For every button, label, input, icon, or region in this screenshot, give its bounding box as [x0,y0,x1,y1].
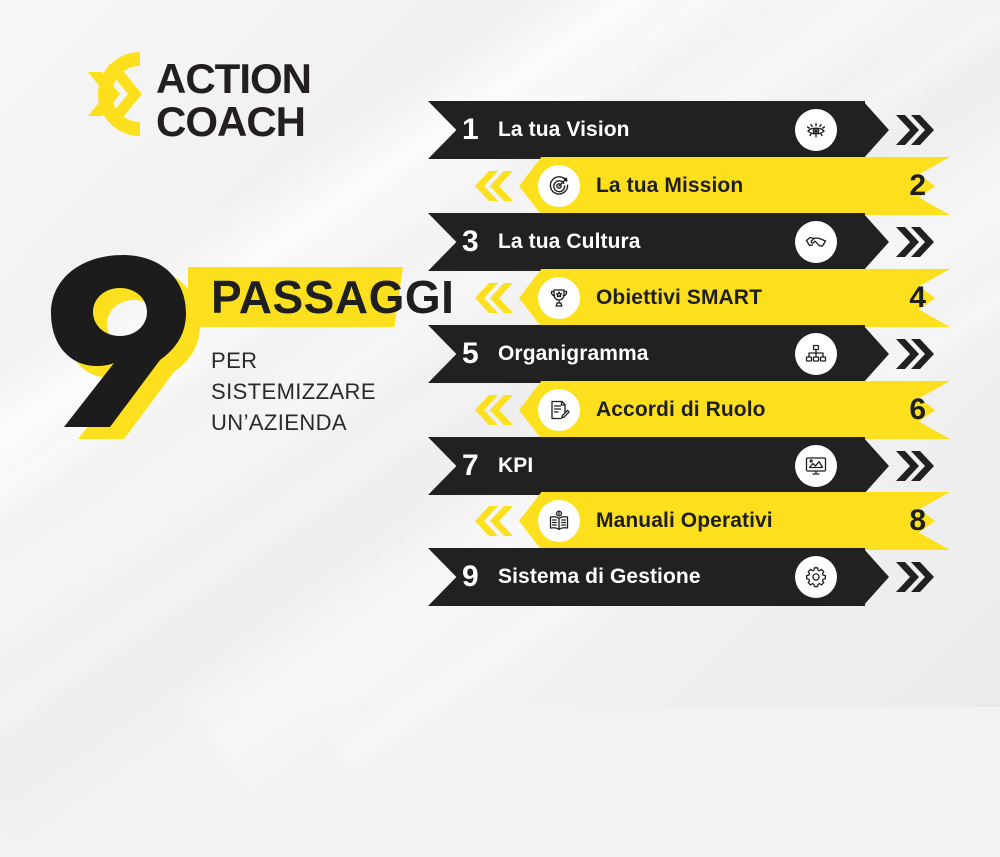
step-row-8[interactable]: 8 Manuali Operativi [497,492,950,550]
handshake-icon [795,221,837,263]
hero-title-block: 9 PASSAGGI PER SISTEMIZZARE UN’AZIENDA [48,255,428,445]
step-arrow-tip [863,213,889,271]
step-label: La tua Cultura [498,230,641,254]
step-row-3[interactable]: 3 La tua Cultura [428,213,865,271]
step-arrow-tip [863,325,889,383]
step-label: Organigramma [498,342,649,366]
hero-banner-title: PASSAGGI [211,273,454,321]
step-number: 7 [462,451,479,481]
step-label: Accordi di Ruolo [596,398,766,422]
chevron-double-right-icon [892,445,934,487]
chevron-double-left-icon [475,500,517,542]
hero-subtitle-line1: PER SISTEMIZZARE [211,345,428,407]
step-number: 2 [909,171,926,201]
step-label: La tua Mission [596,174,743,198]
step-number: 1 [462,115,479,145]
target-icon [538,165,580,207]
step-label: La tua Vision [498,118,630,142]
chevron-double-left-icon [475,277,517,319]
step-number: 8 [909,506,926,536]
step-number: 5 [462,339,479,369]
step-arrow-tip [863,437,889,495]
hero-subtitle-line2: UN’AZIENDA [211,407,428,438]
trophy-icon [538,277,580,319]
step-label: Obiettivi SMART [596,286,762,310]
step-row-9[interactable]: 9 Sistema di Gestione [428,548,865,606]
step-row-2[interactable]: 2 La tua Mission [497,157,950,215]
step-row-7[interactable]: 7 KPI [428,437,865,495]
step-row-1[interactable]: 1 La tua Vision [428,101,865,159]
open-book-icon [538,500,580,542]
step-number: 9 [462,562,479,592]
step-arrow-tip [863,548,889,606]
step-row-4[interactable]: 4 Obiettivi SMART [497,269,950,327]
step-label: Manuali Operativi [596,509,773,533]
chevron-double-right-icon [892,109,934,151]
svg-text:COACH: COACH [156,98,305,145]
step-number: 4 [909,283,926,313]
step-label: Sistema di Gestione [498,565,701,589]
chevron-double-right-icon [892,556,934,598]
step-row-5[interactable]: 5 Organigramma [428,325,865,383]
org-chart-icon [795,333,837,375]
chevron-double-left-icon [475,165,517,207]
chevron-double-right-icon [892,333,934,375]
contract-pen-icon [538,389,580,431]
dashboard-icon [795,445,837,487]
chevron-double-left-icon [475,389,517,431]
step-number: 6 [909,395,926,425]
gear-icon [795,556,837,598]
eye-icon [795,109,837,151]
step-row-6[interactable]: 6 Accordi di Ruolo [497,381,950,439]
step-arrow-tip [863,101,889,159]
actioncoach-logo: ACTION COACH ACTION COACH [52,38,322,150]
hero-subtitle: PER SISTEMIZZARE UN’AZIENDA [211,345,428,438]
step-number: 3 [462,227,479,257]
svg-text:ACTION: ACTION [156,55,311,102]
step-label: KPI [498,454,533,478]
chevron-double-right-icon [892,221,934,263]
